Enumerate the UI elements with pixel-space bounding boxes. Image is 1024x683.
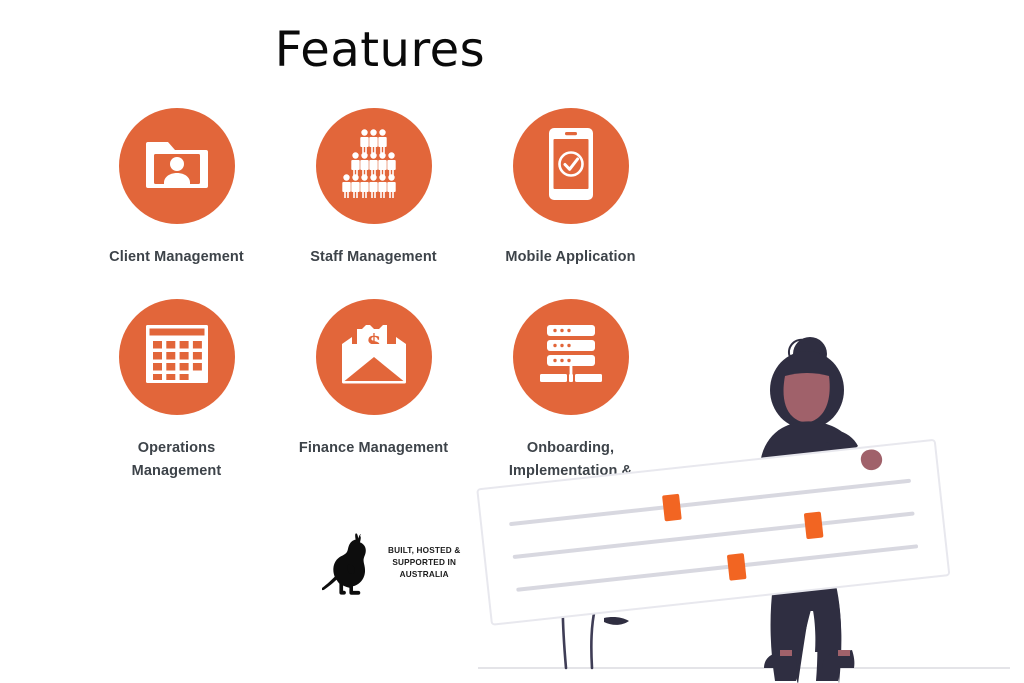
slide-canvas: Features Client Management [0, 0, 1024, 683]
australia-badge-text: BUILT, HOSTED & SUPPORTED IN AUSTRALIA [388, 545, 460, 582]
folder-person-icon [146, 136, 208, 197]
figure-head [770, 337, 844, 429]
feature-label: Finance Management [299, 437, 448, 460]
feature-row: Client Management [78, 108, 698, 269]
person-holding-settings-board-illustration [470, 330, 1024, 683]
feature-icon-circle [513, 108, 629, 224]
phone-check-icon [549, 128, 593, 205]
feature-label: Staff Management [310, 246, 436, 269]
page-title: Features [0, 22, 760, 78]
australia-badge: BUILT, HOSTED & SUPPORTED IN AUSTRALIA [322, 528, 460, 598]
feature-label: Operations Management [122, 437, 232, 483]
feature-label: Mobile Application [505, 246, 635, 269]
envelope-dollar-icon: $ [342, 324, 406, 389]
feature-icon-circle [119, 108, 235, 224]
calendar-icon [146, 325, 208, 388]
people-pyramid-icon [336, 129, 412, 204]
feature-mobile-application[interactable]: Mobile Application [472, 108, 669, 269]
feature-finance-management[interactable]: $ Finance Management [275, 299, 472, 460]
feature-staff-management[interactable]: Staff Management [275, 108, 472, 269]
figure-hand [861, 449, 882, 470]
kangaroo-icon [322, 528, 380, 598]
feature-operations-management[interactable]: Operations Management [78, 299, 275, 483]
feature-label: Client Management [109, 246, 244, 269]
feature-client-management[interactable]: Client Management [78, 108, 275, 269]
feature-icon-circle: $ [316, 299, 432, 415]
feature-icon-circle [119, 299, 235, 415]
feature-icon-circle [316, 108, 432, 224]
